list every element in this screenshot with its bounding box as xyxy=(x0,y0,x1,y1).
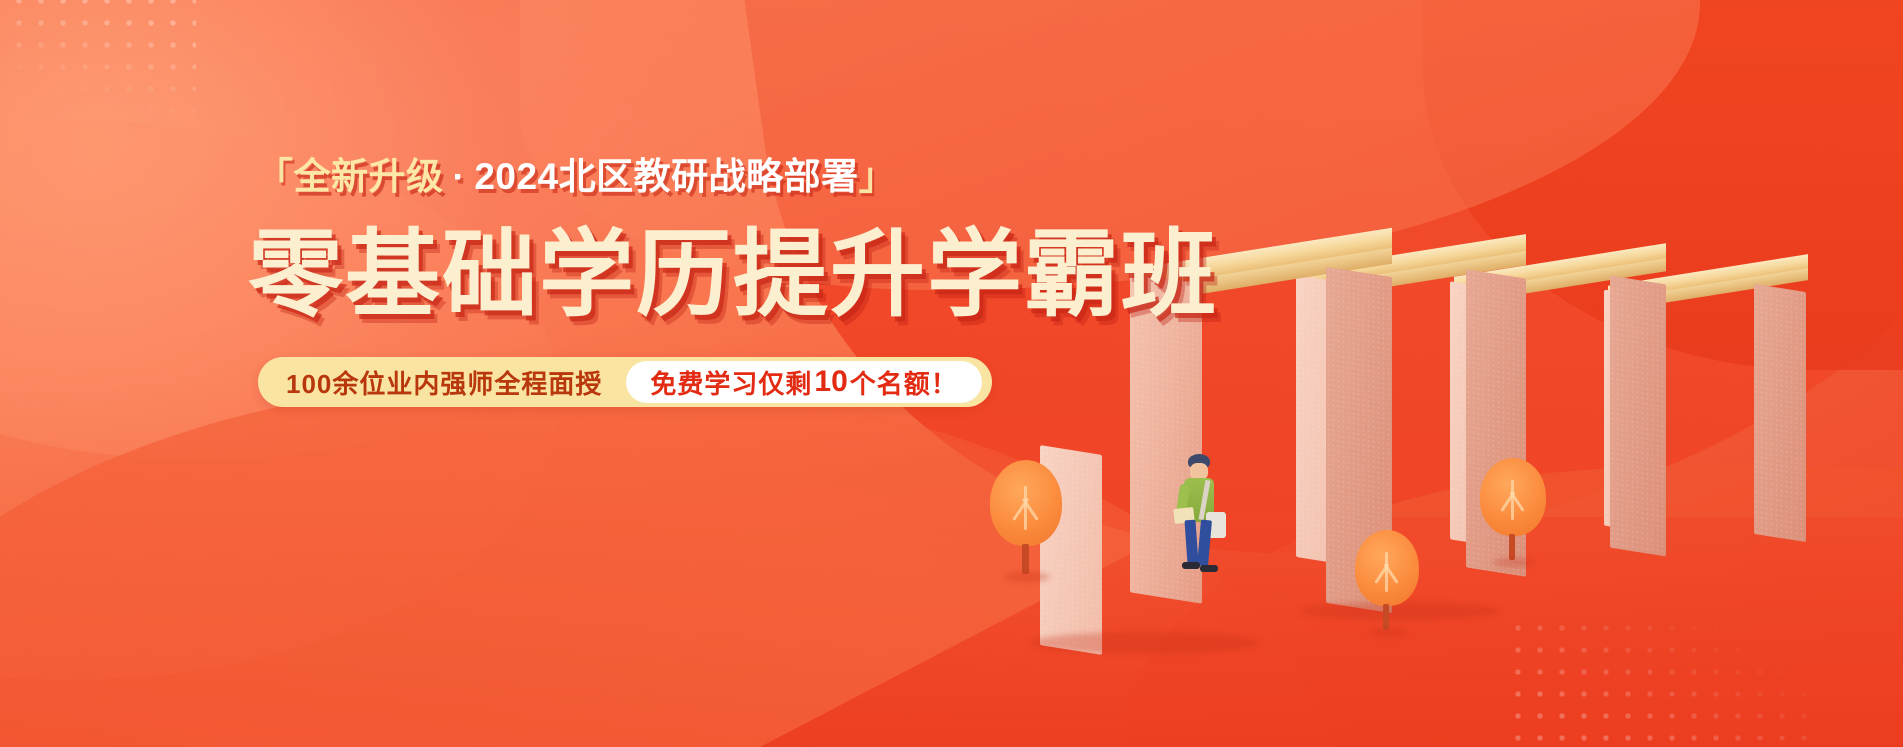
subtitle-highlight: 全新升级 xyxy=(294,156,444,197)
subtitle-bracket-close: 」 xyxy=(859,156,897,197)
figure-leg-right xyxy=(1197,520,1212,567)
highlight-pill-row: 100余位业内强师全程面授 免费学习仅剩10个名额！ xyxy=(258,357,992,407)
promo-banner: 「全新升级·2024北区教研战略部署」 零基础学历提升学霸班 100余位业内强师… xyxy=(0,0,1903,747)
pill-right-badge: 免费学习仅剩10个名额！ xyxy=(626,361,981,403)
illustration-scene xyxy=(1150,280,1903,747)
tree-mid-trunk xyxy=(1383,604,1389,630)
pill-left-label: 100余位业内强师全程面授 xyxy=(286,364,626,401)
subtitle-bracket-open: 「 xyxy=(256,156,294,197)
tree-right xyxy=(1480,458,1560,570)
gate-4-leg-right xyxy=(1754,284,1806,542)
gate-3-leg-right xyxy=(1610,276,1666,557)
pill-right-suffix: 个名额！ xyxy=(850,364,958,401)
student-figure xyxy=(1172,454,1242,584)
tree-right-shadow xyxy=(1493,558,1535,567)
subtitle-white-part: 2024北区教研战略部署 xyxy=(474,156,858,197)
pill-right-number: 10 xyxy=(812,365,849,399)
subtitle-line: 「全新升级·2024北区教研战略部署」 xyxy=(256,158,896,195)
pill-right-prefix: 免费学习仅剩 xyxy=(650,364,812,401)
tree-mid xyxy=(1355,530,1435,640)
figure-shoe-right xyxy=(1200,565,1218,572)
figure-leg-left xyxy=(1184,520,1198,565)
headline-title: 零基础学历提升学霸班 xyxy=(248,222,1218,328)
tree-right-trunk xyxy=(1509,534,1515,560)
subtitle-separator: · xyxy=(444,156,475,197)
tree-mid-shadow xyxy=(1367,628,1409,637)
figure-shoe-left xyxy=(1182,562,1200,569)
copy-block: 「全新升级·2024北区教研战略部署」 零基础学历提升学霸班 100余位业内强师… xyxy=(0,0,1100,747)
